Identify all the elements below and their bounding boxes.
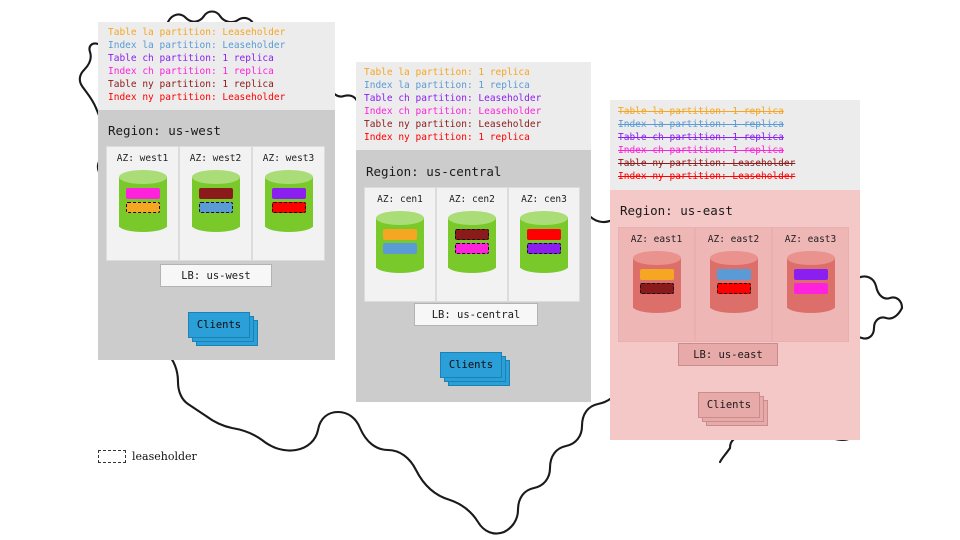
region-title-us-east: Region: us-east: [620, 203, 733, 218]
config-line: Index ch partition: 1 replica: [618, 144, 858, 157]
az-cen2[interactable]: AZ: cen2: [436, 187, 508, 302]
clients-us-west[interactable]: Clients: [188, 312, 260, 348]
cylinder-top: [633, 251, 681, 265]
node-cylinder[interactable]: [119, 170, 167, 232]
cylinder-top: [376, 211, 424, 225]
az-title: AZ: cen1: [377, 194, 423, 205]
replica-bar: [383, 243, 417, 254]
clients-box-label[interactable]: Clients: [188, 312, 250, 338]
node-cylinder[interactable]: [633, 251, 681, 313]
clients-us-east[interactable]: Clients: [698, 392, 770, 428]
az-west1[interactable]: AZ: west1: [106, 146, 179, 261]
config-line: Index la partition: 1 replica: [364, 79, 589, 92]
config-line: Table la partition: Leaseholder: [108, 26, 333, 39]
cylinder-top: [710, 251, 758, 265]
config-line: Index la partition: 1 replica: [618, 118, 858, 131]
replica-bars: [640, 269, 674, 297]
load-balancer-us-west[interactable]: LB: us-west: [160, 264, 272, 287]
replica-bar: [383, 229, 417, 240]
legend-label: leaseholder: [132, 450, 197, 463]
replica-bar: [794, 269, 828, 280]
replica-bars: [717, 269, 751, 297]
node-cylinder[interactable]: [448, 211, 496, 273]
config-text-us-central: Table la partition: 1 replica Index la p…: [364, 66, 589, 145]
node-cylinder[interactable]: [376, 211, 424, 273]
config-text-us-west: Table la partition: Leaseholder Index la…: [108, 26, 333, 105]
node-cylinder[interactable]: [265, 170, 313, 232]
az-cen3[interactable]: AZ: cen3: [508, 187, 580, 302]
az-cen1[interactable]: AZ: cen1: [364, 187, 436, 302]
load-balancer-us-central[interactable]: LB: us-central: [414, 303, 538, 326]
config-line: Table ny partition: 1 replica: [108, 78, 333, 91]
replica-bar: [640, 269, 674, 280]
replica-bar-leaseholder: [272, 202, 306, 213]
replica-bars: [199, 188, 233, 216]
az-title: AZ: cen2: [449, 194, 495, 205]
az-title: AZ: west2: [190, 153, 241, 164]
legend: leaseholder: [98, 450, 197, 463]
cylinder-top: [520, 211, 568, 225]
config-line: Table la partition: 1 replica: [364, 66, 589, 79]
region-title-us-central: Region: us-central: [366, 164, 501, 179]
replica-bar: [717, 269, 751, 280]
replica-bar-leaseholder: [126, 202, 160, 213]
replica-bars: [794, 269, 828, 297]
config-line: Index ny partition: 1 replica: [364, 131, 589, 144]
replica-bar: [199, 188, 233, 199]
config-text-us-east: Table la partition: 1 replica Index la p…: [618, 105, 858, 184]
node-cylinder[interactable]: [710, 251, 758, 313]
replica-bars: [272, 188, 306, 216]
az-east2[interactable]: AZ: east2: [695, 227, 772, 342]
cylinder-top: [787, 251, 835, 265]
replica-bar-leaseholder: [527, 243, 561, 254]
cylinder-top: [192, 170, 240, 184]
az-title: AZ: cen3: [521, 194, 567, 205]
az-row-us-east: AZ: east1 AZ: east2 AZ: east3: [618, 227, 849, 342]
dashed-box-icon: [98, 450, 126, 463]
config-line: Table ny partition: Leaseholder: [618, 157, 858, 170]
az-title: AZ: east2: [708, 234, 759, 245]
az-title: AZ: east3: [785, 234, 836, 245]
replica-bar-leaseholder: [640, 283, 674, 294]
az-row-us-west: AZ: west1 AZ: west2 AZ: west3: [106, 146, 325, 261]
az-title: AZ: west3: [263, 153, 314, 164]
node-cylinder[interactable]: [787, 251, 835, 313]
az-title: AZ: west1: [117, 153, 168, 164]
az-east3[interactable]: AZ: east3: [772, 227, 849, 342]
az-row-us-central: AZ: cen1 AZ: cen2 AZ: cen3: [364, 187, 580, 302]
config-line: Table ch partition: 1 replica: [108, 52, 333, 65]
az-title: AZ: east1: [631, 234, 682, 245]
node-cylinder[interactable]: [192, 170, 240, 232]
load-balancer-us-east[interactable]: LB: us-east: [678, 343, 778, 366]
clients-box-label[interactable]: Clients: [698, 392, 760, 418]
config-line: Index ch partition: Leaseholder: [364, 105, 589, 118]
config-line: Table ny partition: Leaseholder: [364, 118, 589, 131]
replica-bar: [272, 188, 306, 199]
replica-bar-leaseholder: [717, 283, 751, 294]
config-line: Table la partition: 1 replica: [618, 105, 858, 118]
replica-bar-leaseholder: [199, 202, 233, 213]
replica-bar: [527, 229, 561, 240]
replica-bars: [455, 229, 489, 257]
config-line: Index ny partition: Leaseholder: [108, 91, 333, 104]
replica-bars: [383, 229, 417, 257]
node-cylinder[interactable]: [520, 211, 568, 273]
cylinder-top: [119, 170, 167, 184]
config-line: Index ch partition: 1 replica: [108, 65, 333, 78]
cylinder-top: [265, 170, 313, 184]
config-line: Index ny partition: Leaseholder: [618, 170, 858, 183]
config-line: Table ch partition: 1 replica: [618, 131, 858, 144]
region-title-us-west: Region: us-west: [108, 123, 221, 138]
cylinder-top: [448, 211, 496, 225]
replica-bar-leaseholder: [455, 243, 489, 254]
replica-bar: [794, 283, 828, 294]
config-line: Index la partition: Leaseholder: [108, 39, 333, 52]
replica-bar-leaseholder: [455, 229, 489, 240]
az-west2[interactable]: AZ: west2: [179, 146, 252, 261]
az-west3[interactable]: AZ: west3: [252, 146, 325, 261]
replica-bars: [527, 229, 561, 257]
replica-bars: [126, 188, 160, 216]
replica-bar: [126, 188, 160, 199]
az-east1[interactable]: AZ: east1: [618, 227, 695, 342]
clients-box-label[interactable]: Clients: [440, 352, 502, 378]
clients-us-central[interactable]: Clients: [440, 352, 512, 388]
config-line: Table ch partition: Leaseholder: [364, 92, 589, 105]
